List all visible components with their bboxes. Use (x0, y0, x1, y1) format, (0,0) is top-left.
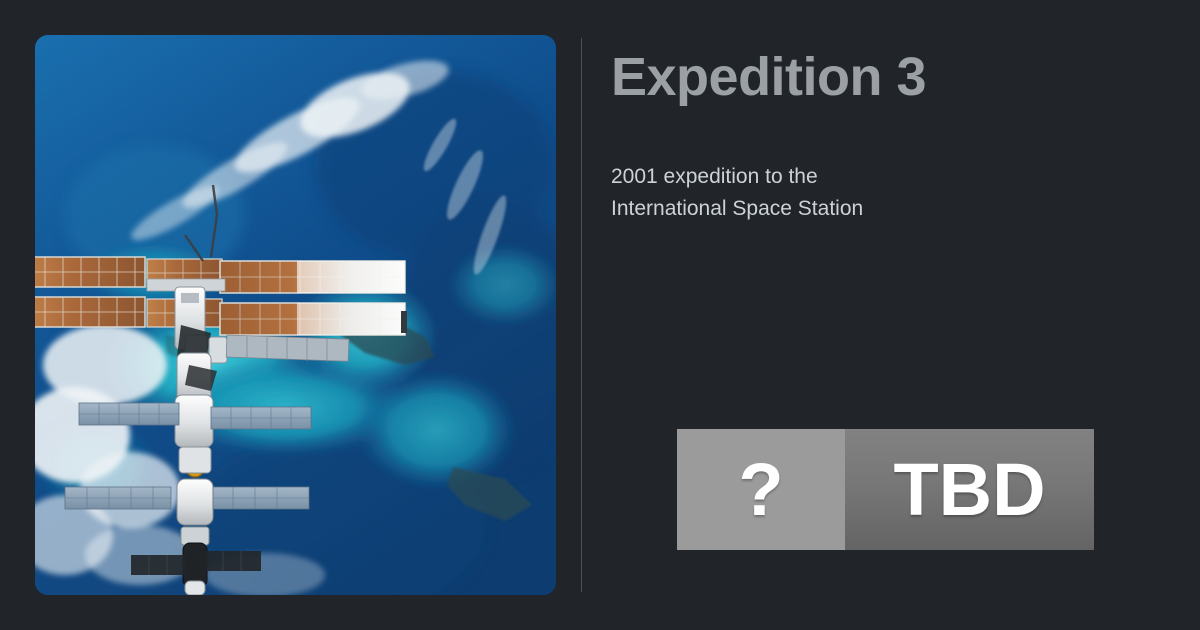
iss-photo-panel (35, 35, 556, 595)
badge-label-section: TBD (845, 429, 1094, 550)
social-card: Expedition 3 2001 expedition to the Inte… (0, 0, 1200, 630)
vertical-divider (581, 38, 582, 592)
page-description: 2001 expedition to the International Spa… (611, 161, 863, 225)
badge-icon-section: ? (677, 429, 845, 550)
badge-label: TBD (893, 453, 1045, 527)
info-panel: Expedition 3 2001 expedition to the Inte… (611, 0, 1171, 630)
question-mark-icon: ? (738, 453, 783, 527)
description-line-1: 2001 expedition to the (611, 161, 863, 193)
iss-orbital-photo (35, 35, 556, 595)
description-line-2: International Space Station (611, 193, 863, 225)
page-title: Expedition 3 (611, 48, 926, 107)
status-badge[interactable]: ? TBD (677, 429, 1094, 550)
